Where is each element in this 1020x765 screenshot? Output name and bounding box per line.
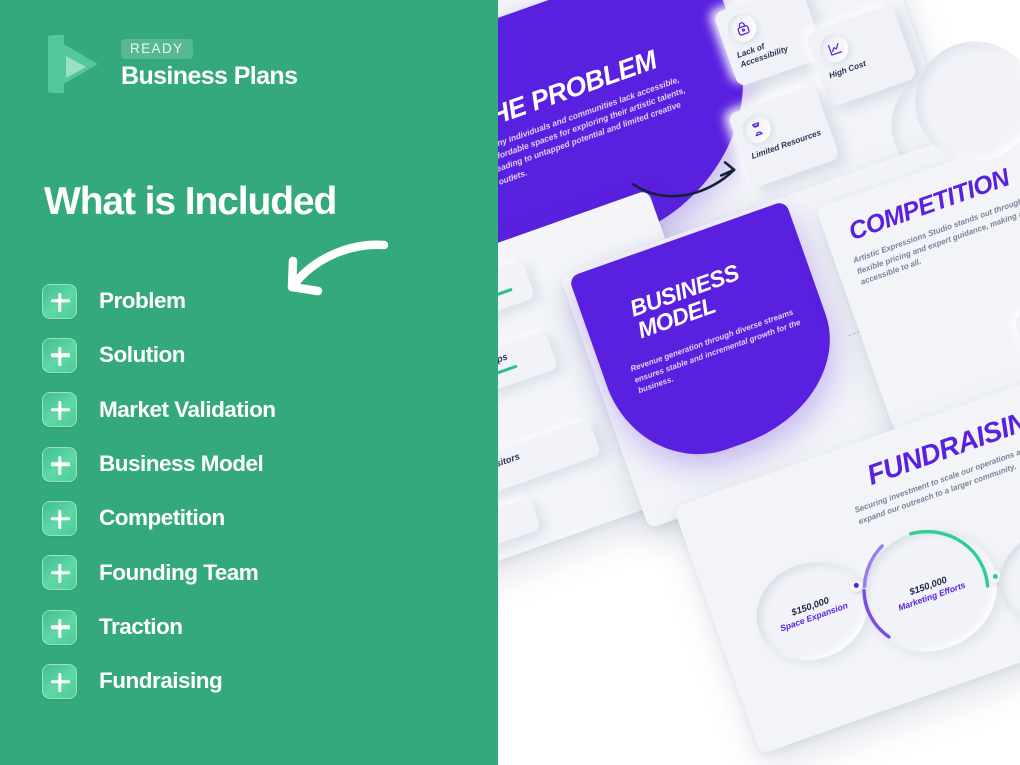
included-items-list: Problem Solution Market Validation Busin… <box>42 283 462 718</box>
metric-label-monthly-visitors: Monthly Visitors <box>498 428 586 484</box>
brand-text-group: READY Business Plans <box>121 39 297 90</box>
metric-label-field: Field <box>498 506 527 547</box>
metric-card-drop-in-fees[interactable]: Drop-in Fees <box>498 260 535 344</box>
play-triangle-icon <box>46 33 108 95</box>
deck-perspective-plane: THE PROBLEM Many individuals and communi… <box>498 0 1020 765</box>
list-item-traction[interactable]: Traction <box>42 609 462 645</box>
competition-card-info[interactable] <box>1013 290 1020 386</box>
fundraising-progress-arcs <box>838 503 1020 679</box>
lock-icon <box>724 10 760 46</box>
poster-canvas: THE PROBLEM Many individuals and communi… <box>0 0 1020 765</box>
plus-icon <box>42 447 77 482</box>
list-item-problem[interactable]: Problem <box>42 283 462 319</box>
list-item-label: Fundraising <box>99 670 222 693</box>
list-item-competition[interactable]: Competition <box>42 501 462 537</box>
list-item-label: Founding Team <box>99 562 258 585</box>
page-title: What is Included <box>44 182 336 221</box>
plus-icon <box>42 501 77 536</box>
list-item-solution[interactable]: Solution <box>42 337 462 373</box>
brand-title: Business Plans <box>121 63 297 89</box>
metric-card-monthly-visitors[interactable]: Monthly Visitors <box>498 419 601 508</box>
metric-card-education-workshops[interactable]: Education Workshops <box>498 330 558 418</box>
plus-icon <box>42 392 77 427</box>
plus-icon <box>42 284 77 319</box>
list-item-label: Traction <box>99 616 183 639</box>
list-item-label: Market Validation <box>99 399 276 422</box>
list-item-market-validation[interactable]: Market Validation <box>42 392 462 428</box>
list-item-label: Competition <box>99 507 225 530</box>
brand-lockup: READY Business Plans <box>46 33 297 95</box>
plus-icon <box>42 664 77 699</box>
list-item-label: Problem <box>99 290 186 313</box>
metric-label-drop-in-fees: Drop-in Fees <box>498 269 519 319</box>
metric-label-education-workshops: Education Workshops <box>498 340 542 393</box>
plus-icon <box>42 555 77 590</box>
chart-line-icon <box>816 31 852 67</box>
list-item-label: Business Model <box>99 453 263 476</box>
list-item-founding-team[interactable]: Founding Team <box>42 555 462 591</box>
metric-card-field[interactable]: Field <box>498 497 541 566</box>
left-info-panel: READY Business Plans What is Included Pr… <box>0 0 498 765</box>
ready-badge: READY <box>121 39 193 60</box>
plus-icon <box>42 610 77 645</box>
list-item-fundraising[interactable]: Fundraising <box>42 664 462 700</box>
slide-deck-showcase: THE PROBLEM Many individuals and communi… <box>498 0 1020 765</box>
metric-bar <box>498 288 513 328</box>
hourglass-icon <box>739 111 775 147</box>
list-item-label: Solution <box>99 344 185 367</box>
list-item-business-model[interactable]: Business Model <box>42 446 462 482</box>
metric-bar <box>498 365 517 402</box>
plus-icon <box>42 338 77 373</box>
